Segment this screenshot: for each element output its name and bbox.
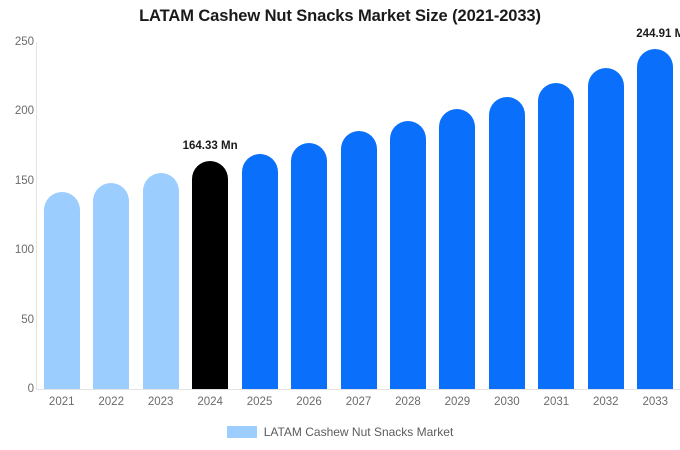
x-axis-tick-label: 2023	[148, 396, 174, 408]
bar-group: 2029	[439, 0, 475, 450]
y-axis-tick-label: 50	[2, 314, 34, 326]
bar-group: 2021	[44, 0, 80, 450]
bar-2027[interactable]	[341, 131, 377, 389]
x-axis-tick-label: 2031	[544, 396, 570, 408]
bar-group: 2028	[390, 0, 426, 450]
bar-2024[interactable]	[192, 161, 228, 389]
y-axis-tick-label: 200	[2, 105, 34, 117]
bar-group: 2022	[93, 0, 129, 450]
chart-container: LATAM Cashew Nut Snacks Market Size (202…	[0, 0, 680, 450]
x-axis-tick-label: 2026	[296, 396, 322, 408]
y-axis-tick-label: 250	[2, 36, 34, 48]
x-axis-tick-label: 2024	[197, 396, 223, 408]
x-axis-tick-label: 2025	[247, 396, 273, 408]
bar-2022[interactable]	[93, 183, 129, 389]
x-axis-tick-label: 2033	[642, 396, 668, 408]
x-axis-tick-label: 2022	[98, 396, 124, 408]
bar-group: 2023	[143, 0, 179, 450]
x-axis-tick-label: 2030	[494, 396, 520, 408]
bar-group: 2031	[538, 0, 574, 450]
bar-2025[interactable]	[242, 154, 278, 389]
bar-2031[interactable]	[538, 83, 574, 389]
bar-2028[interactable]	[390, 121, 426, 389]
bar-group: 244.91 Mn2033	[637, 0, 673, 450]
bar-2030[interactable]	[489, 97, 525, 389]
bar-2026[interactable]	[291, 143, 327, 389]
bar-value-label-2033: 244.91 Mn	[636, 28, 680, 40]
x-axis-tick-label: 2027	[346, 396, 372, 408]
bar-group: 2025	[242, 0, 278, 450]
x-axis-tick-label: 2021	[49, 396, 75, 408]
bar-group: 2030	[489, 0, 525, 450]
bar-series: 202120222023164.33 Mn2024202520262027202…	[37, 0, 680, 450]
bar-2032[interactable]	[588, 68, 624, 389]
bar-group: 2032	[588, 0, 624, 450]
chart-legend: LATAM Cashew Nut Snacks Market	[0, 425, 680, 439]
legend-swatch-icon	[227, 426, 257, 438]
x-axis-tick-label: 2029	[445, 396, 471, 408]
legend-label: LATAM Cashew Nut Snacks Market	[264, 425, 454, 439]
y-axis-tick-label: 0	[2, 383, 34, 395]
bar-2033[interactable]	[637, 49, 673, 389]
bar-value-label-2024: 164.33 Mn	[183, 140, 238, 152]
bar-group: 2027	[341, 0, 377, 450]
bar-group: 164.33 Mn2024	[192, 0, 228, 450]
bar-group: 2026	[291, 0, 327, 450]
x-axis-tick-label: 2028	[395, 396, 421, 408]
bar-2023[interactable]	[143, 173, 179, 389]
y-axis-tick-label: 150	[2, 175, 34, 187]
bar-2029[interactable]	[439, 109, 475, 390]
y-axis-tick-label: 100	[2, 244, 34, 256]
x-axis-tick-label: 2032	[593, 396, 619, 408]
bar-2021[interactable]	[44, 192, 80, 389]
y-axis-ticks: 050100150200250	[0, 0, 34, 450]
